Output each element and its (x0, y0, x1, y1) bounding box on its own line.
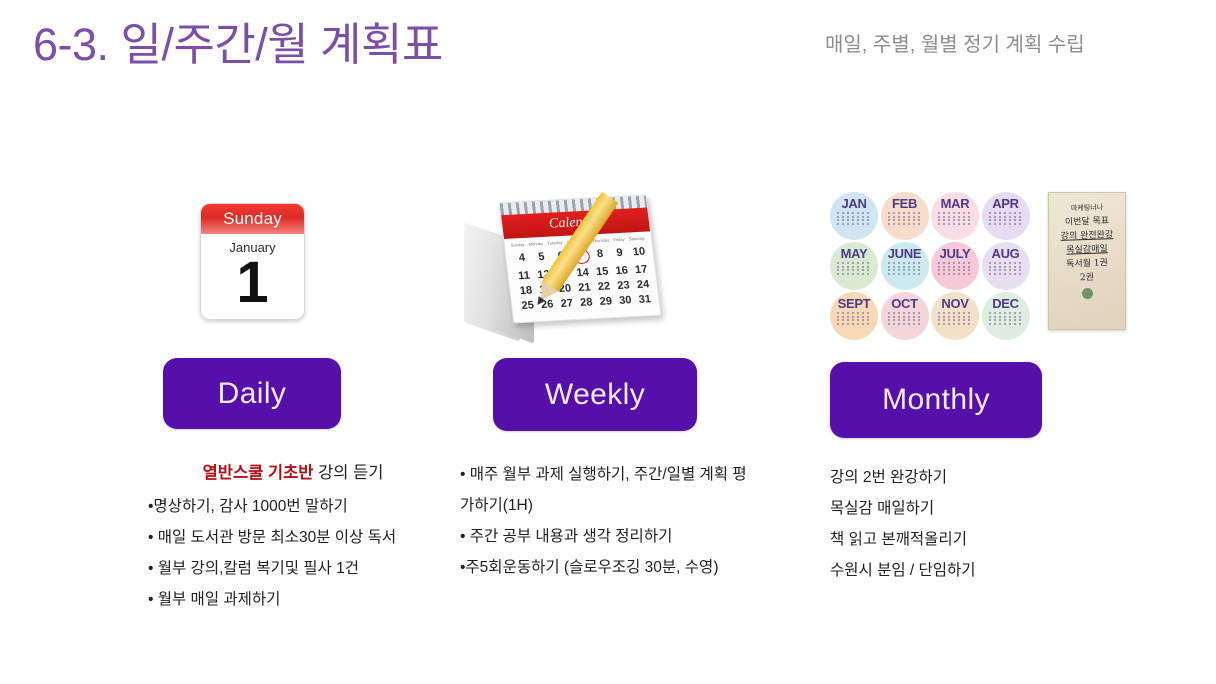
desk-calendar-date-cell: 18 (517, 284, 535, 297)
month-circle: MAR (931, 192, 979, 240)
daily-headline-rest: 강의 듣기 (313, 464, 383, 482)
desk-calendar-date-cell: 16 (613, 264, 631, 277)
month-circle-label: JAN (841, 197, 866, 210)
desk-calendar-date-cell: 21 (575, 281, 593, 294)
month-circle-date-dots (989, 312, 1023, 325)
month-circle-date-dots (989, 212, 1023, 225)
month-circle: DEC (982, 292, 1030, 340)
month-circle-date-dots (888, 212, 922, 225)
desk-calendar-date-cell: 10 (630, 246, 649, 262)
desk-calendar-date-cell: 30 (616, 294, 634, 307)
handwritten-note-image: 마케팅너나이번달 목표강의 완전완강목실감매일독서월 1권2권 (1048, 192, 1126, 330)
month-circle-label: JULY (940, 247, 971, 260)
list-item: 책 읽고 본깨적올리기 (830, 524, 1130, 555)
desk-calendar-weekday-label: Monday (528, 241, 543, 247)
column-daily: Sunday January 1 (120, 180, 420, 350)
month-circle: JAN (830, 192, 878, 240)
weekly-notes-list: • 매주 월부 과제 실행하기, 주간/일별 계획 평가하기(1H) • 주간 … (460, 459, 760, 583)
month-circle-label: MAR (941, 197, 970, 210)
list-item: 목실감 매일하기 (830, 493, 1130, 524)
month-circle-date-dots (837, 262, 871, 275)
desk-calendar-date-cell: 8 (591, 248, 610, 264)
month-circle-date-dots (938, 212, 972, 225)
desk-calendar-date-cell: 24 (634, 278, 652, 291)
desk-calendar-date-grid: 4567891011121314151617181920212223242526… (513, 246, 655, 316)
month-circle-label: JUNE (888, 247, 921, 260)
list-item: • 주간 공부 내용과 생각 정리하기 (460, 521, 760, 552)
desk-calendar-date-cell: 5 (532, 251, 551, 267)
month-circle-label: AUG (992, 247, 1020, 260)
day-calendar-daynumber: 1 (201, 253, 304, 313)
desk-calendar-date-cell: 23 (614, 279, 632, 292)
daily-artwork: Sunday January 1 (120, 180, 420, 350)
list-item: • 월부 강의,칼럼 복기및 필사 1건 (148, 553, 438, 584)
daily-headline: 열반스쿨 기초반 강의 듣기 (148, 458, 438, 489)
desk-calendar-image: Calendar SundayMondayTuesdayWednesdayThu… (458, 192, 658, 342)
month-circles-image: JANFEBMARAPRMAYJUNEJULYAUGSEPTOCTNOVDEC (830, 192, 1030, 340)
daily-notes-list: 열반스쿨 기초반 강의 듣기 •명상하기, 감사 1000번 말하기 • 매일 … (148, 458, 438, 615)
desk-calendar-weekday-label: Friday (613, 237, 625, 243)
desk-calendar-weekday-label: Saturday (629, 236, 646, 242)
desk-calendar-date-cell: 29 (597, 295, 615, 308)
month-circle: JUNE (881, 242, 929, 290)
month-circle-label: OCT (891, 297, 918, 310)
month-circle-date-dots (938, 262, 972, 275)
page-title: 6-3. 일/주간/월 계획표 (33, 16, 443, 74)
desk-calendar-date-cell: 31 (636, 293, 654, 306)
desk-calendar-date-cell: 11 (515, 270, 533, 283)
month-circle: SEPT (830, 292, 878, 340)
desk-calendar-date-cell: 14 (573, 266, 591, 279)
month-circle-label: NOV (941, 297, 968, 310)
month-circle-label: APR (992, 197, 1019, 210)
desk-calendar-weekday-label: Tuesday (547, 240, 563, 246)
slide-root: 6-3. 일/주간/월 계획표 매일, 주별, 월별 정기 계획 수립 Sund… (0, 0, 1216, 684)
month-circle-date-dots (837, 312, 871, 325)
desk-calendar-weekday-label: Sunday (510, 242, 524, 248)
list-item: 수원시 분임 / 단임하기 (830, 555, 1130, 586)
list-item: 강의 2번 완강하기 (830, 462, 1130, 493)
list-item: • 월부 매일 과제하기 (148, 584, 438, 615)
list-item: • 매주 월부 과제 실행하기, 주간/일별 계획 평가하기(1H) (460, 459, 760, 521)
desk-calendar-date-cell: 9 (610, 247, 629, 263)
month-circle: JULY (931, 242, 979, 290)
month-circle-date-dots (938, 312, 972, 325)
month-circle: NOV (931, 292, 979, 340)
column-monthly: JANFEBMARAPRMAYJUNEJULYAUGSEPTOCTNOVDEC … (800, 180, 1160, 350)
day-calendar-icon: Sunday January 1 (200, 203, 305, 320)
month-circle: MAY (830, 242, 878, 290)
month-circle-label: DEC (992, 297, 1019, 310)
month-circle-date-dots (888, 262, 922, 275)
month-circle: APR (982, 192, 1030, 240)
weekly-button[interactable]: Weekly (493, 358, 697, 431)
list-item: •명상하기, 감사 1000번 말하기 (148, 491, 438, 522)
desk-calendar-date-cell: 22 (595, 280, 613, 293)
column-weekly: Calendar SundayMondayTuesdayWednesdayThu… (450, 180, 760, 350)
month-circle: FEB (881, 192, 929, 240)
month-circle-date-dots (888, 312, 922, 325)
desk-calendar-date-cell: 17 (632, 263, 650, 276)
monthly-notes-list: 강의 2번 완강하기 목실감 매일하기 책 읽고 본깨적올리기 수원시 분임 /… (830, 462, 1130, 586)
desk-calendar-weekday-label: Thursday (592, 238, 609, 244)
weekly-artwork: Calendar SundayMondayTuesdayWednesdayThu… (450, 180, 760, 350)
daily-headline-highlight: 열반스쿨 기초반 (203, 464, 314, 482)
desk-calendar-date-cell: 28 (577, 296, 595, 309)
list-item: •주5회운동하기 (슬로우조깅 30분, 수영) (460, 552, 760, 583)
monthly-artwork: JANFEBMARAPRMAYJUNEJULYAUGSEPTOCTNOVDEC … (800, 180, 1160, 350)
month-circle-date-dots (837, 212, 871, 225)
desk-calendar-date-cell: 27 (558, 297, 576, 310)
month-circle-label: FEB (892, 197, 917, 210)
month-circle-label: MAY (841, 247, 868, 260)
month-circle-date-dots (989, 262, 1023, 275)
desk-calendar-date-cell: 15 (593, 265, 611, 278)
note-line: 2권 (1055, 270, 1119, 286)
month-circle-label: SEPT (838, 297, 871, 310)
monthly-button[interactable]: Monthly (830, 362, 1042, 438)
page-subtitle: 매일, 주별, 월별 정기 계획 수립 (825, 31, 1085, 59)
daily-button[interactable]: Daily (163, 358, 341, 429)
month-circle: OCT (881, 292, 929, 340)
day-calendar-weekday: Sunday (201, 204, 304, 234)
list-item: • 매일 도서관 방문 최소30분 이상 독서 (148, 522, 438, 553)
note-stamp-icon (1082, 288, 1093, 299)
desk-calendar-date-cell: 4 (513, 252, 532, 268)
month-circle: AUG (982, 242, 1030, 290)
